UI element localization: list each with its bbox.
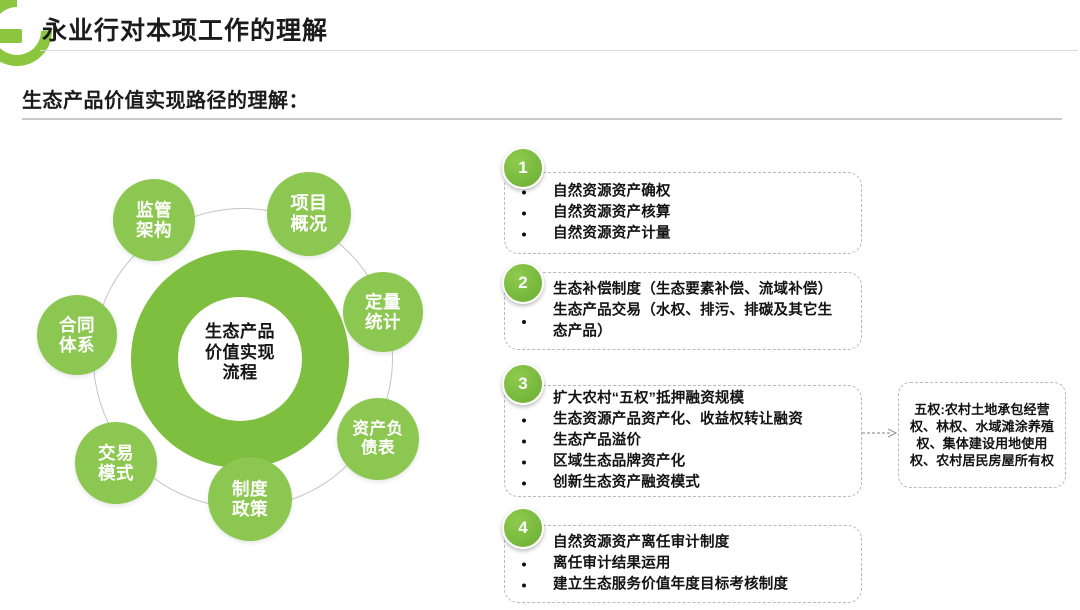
panel-line: 区域生态品牌资产化 — [553, 452, 851, 473]
wheel-node-project-overview[interactable]: 项目 概况 — [267, 172, 351, 256]
bullet-dot — [522, 203, 526, 224]
wheel-node-label-line-1: 制度 — [232, 479, 268, 499]
wheel-node-contract-system[interactable]: 合同 体系 — [37, 295, 117, 375]
panel-text-block: 自然资源资产确权 自然资源资产核算 自然资源资产计量 — [553, 181, 851, 244]
logo-bar-icon — [0, 29, 22, 43]
bullet-dot — [522, 452, 526, 473]
connector-arrow-icon — [862, 427, 900, 439]
panel-line: 建立生态服务价值年度目标考核制度 — [553, 575, 851, 596]
panel-line: 扩大农村“五权”抵押融资规模 — [553, 388, 851, 409]
title-divider — [40, 50, 1078, 51]
section-subtitle: 生态产品价值实现路径的理解： — [22, 84, 309, 113]
bullet-column — [522, 182, 526, 245]
wheel-node-asset-liability-sheet[interactable]: 资产负 债表 — [337, 398, 419, 480]
bullet-dot — [522, 575, 526, 596]
wheel-node-label-line-1: 合同 — [59, 315, 95, 335]
panel-line: 离任审计结果运用 — [553, 553, 851, 574]
wheel-center-line-1: 生态产品 — [168, 322, 312, 343]
bullet-dot — [522, 224, 526, 245]
panel-line: 生态产品溢价 — [553, 430, 851, 451]
wheel-node-supervision-framework[interactable]: 监管 架构 — [113, 179, 195, 261]
step-badge-4: 4 — [502, 507, 544, 549]
panel-line: 自然资源资产离任审计制度 — [553, 532, 851, 553]
bullet-dot — [522, 431, 526, 452]
panel-line: 生态补偿制度（生态要素补偿、流域补偿） — [553, 279, 851, 300]
bullet-dot — [522, 554, 526, 575]
step-badge-1: 1 — [502, 147, 544, 189]
step-panel-1: 自然资源资产确权 自然资源资产核算 自然资源资产计量 — [504, 172, 862, 254]
wheel-node-label-line-2: 统计 — [365, 312, 401, 332]
wheel-node-quantitative-statistics[interactable]: 定量 统计 — [343, 272, 423, 352]
step-badge-2: 2 — [502, 262, 544, 304]
wheel-node-label-line-2: 概况 — [291, 214, 328, 235]
wheel-node-label-line-2: 政策 — [232, 499, 268, 519]
panel-line: 态产品） — [553, 322, 851, 343]
step-badge-3: 3 — [502, 363, 544, 405]
wheel-node-label-line-1: 监管 — [136, 200, 172, 220]
wheel-node-label-line-2: 模式 — [98, 463, 134, 483]
wheel-node-system-policy[interactable]: 制度 政策 — [208, 457, 292, 541]
wheel-node-transaction-mode[interactable]: 交易 模式 — [75, 422, 157, 504]
wheel-node-label-line-1: 资产负 — [353, 420, 404, 439]
five-rights-note-text: 五权:农村土地承包经营权、林权、水域滩涂养殖权、集体建设用地使用权、农村居民房屋… — [899, 401, 1065, 470]
panel-line: 自然资源资产核算 — [553, 202, 851, 223]
page-title: 永业行对本项工作的理解 — [42, 11, 328, 47]
panel-line: 自然资源资产确权 — [553, 181, 851, 202]
wheel-node-label-line-1: 交易 — [98, 443, 134, 463]
bullet-dot — [522, 473, 526, 494]
wheel-node-label-line-2: 债表 — [353, 439, 404, 458]
value-realization-wheel: 生态产品 价值实现 流程 项目 概况 定量 统计 资产负 债表 制度 政策 交易… — [25, 150, 465, 590]
panel-line: 创新生态资产融资模式 — [553, 473, 851, 494]
step-panel-4: 自然资源资产离任审计制度 离任审计结果运用 建立生态服务价值年度目标考核制度 — [504, 525, 862, 603]
five-rights-note-box: 五权:农村土地承包经营权、林权、水域滩涂养殖权、集体建设用地使用权、农村居民房屋… — [898, 382, 1066, 488]
wheel-node-label-line-2: 体系 — [59, 335, 95, 355]
wheel-node-label-line-1: 定量 — [365, 292, 401, 312]
wheel-node-label-line-1: 项目 — [291, 193, 328, 214]
bullet-dot — [522, 410, 526, 431]
panel-line: 生态资源产品资产化、收益权转让融资 — [553, 409, 851, 430]
step-panel-3: 扩大农村“五权”抵押融资规模 生态资源产品资产化、收益权转让融资 生态产品溢价 … — [504, 385, 862, 497]
panel-line: 生态产品交易（水权、排污、排碳及其它生 — [553, 300, 851, 321]
wheel-node-label-line-2: 架构 — [136, 220, 172, 240]
step-panel-2: 生态补偿制度（生态要素补偿、流域补偿） 生态产品交易（水权、排污、排碳及其它生 … — [504, 272, 862, 350]
panel-line: 自然资源资产计量 — [553, 224, 851, 245]
wheel-center-line-3: 流程 — [168, 363, 312, 384]
company-logo: YYD — [0, 0, 38, 50]
panel-text-block: 自然资源资产离任审计制度 离任审计结果运用 建立生态服务价值年度目标考核制度 — [553, 532, 851, 595]
subtitle-divider — [22, 118, 1062, 120]
bullet-dot — [522, 311, 526, 332]
panel-text-block: 扩大农村“五权”抵押融资规模 生态资源产品资产化、收益权转让融资 生态产品溢价 … — [553, 388, 851, 493]
panel-text-block: 生态补偿制度（生态要素补偿、流域补偿） 生态产品交易（水权、排污、排碳及其它生 … — [553, 279, 851, 342]
wheel-center-line-2: 价值实现 — [168, 343, 312, 364]
wheel-center-label: 生态产品 价值实现 流程 — [168, 322, 312, 384]
